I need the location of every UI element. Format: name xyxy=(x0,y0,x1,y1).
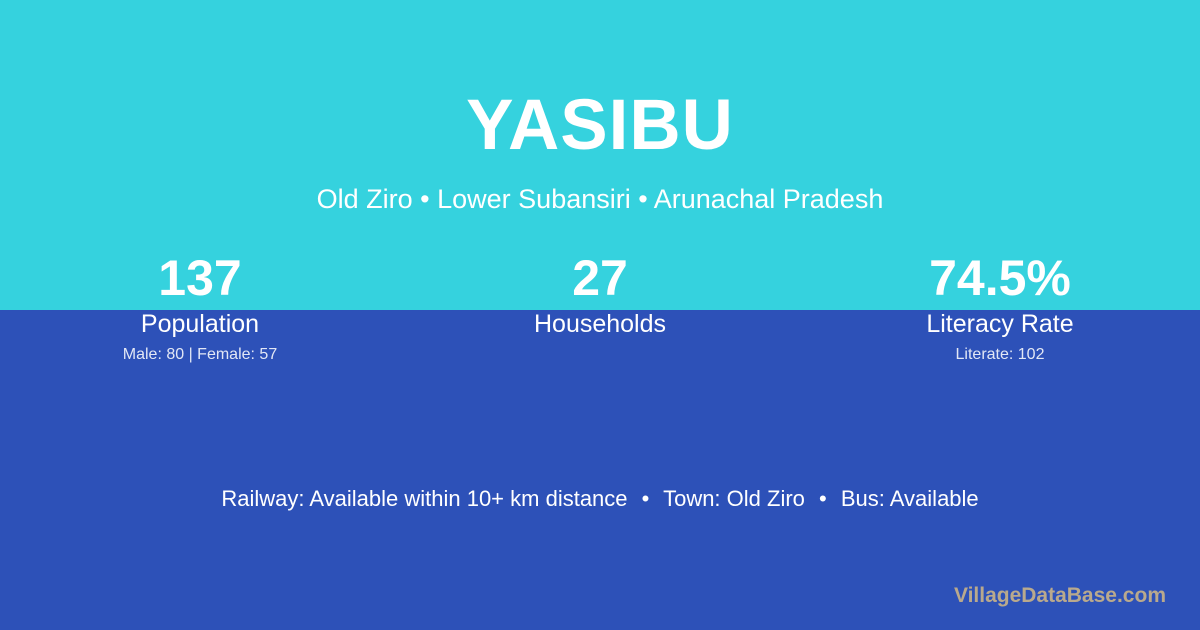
village-info-card: YASIBU Old Ziro • Lower Subansiri • Arun… xyxy=(0,0,1200,630)
stat-label: Population xyxy=(0,308,400,340)
stat-value: 137 xyxy=(0,248,400,308)
facility-railway: Railway: Available within 10+ km distanc… xyxy=(221,486,627,511)
facility-separator: • xyxy=(811,486,835,511)
facility-bus: Bus: Available xyxy=(841,486,979,511)
stat-sublabel: Male: 80 | Female: 57 xyxy=(0,344,400,366)
stat-literacy-rate: 74.5% Literacy Rate Literate: 102 xyxy=(800,248,1200,366)
site-branding: VillageDataBase.com xyxy=(954,583,1166,609)
breadcrumb: Old Ziro • Lower Subansiri • Arunachal P… xyxy=(0,182,1200,216)
stat-sublabel: Literate: 102 xyxy=(800,344,1200,366)
page-title: YASIBU xyxy=(0,84,1200,168)
facility-town: Town: Old Ziro xyxy=(663,486,805,511)
facilities-line: Railway: Available within 10+ km distanc… xyxy=(0,484,1200,514)
stat-population: 137 Population Male: 80 | Female: 57 xyxy=(0,248,400,366)
stats-row: 137 Population Male: 80 | Female: 57 27 … xyxy=(0,248,1200,366)
stat-value: 74.5% xyxy=(800,248,1200,308)
stat-households: 27 Households xyxy=(400,248,800,366)
stat-label: Literacy Rate xyxy=(800,308,1200,340)
stat-label: Households xyxy=(400,308,800,340)
facility-separator: • xyxy=(634,486,658,511)
stat-value: 27 xyxy=(400,248,800,308)
